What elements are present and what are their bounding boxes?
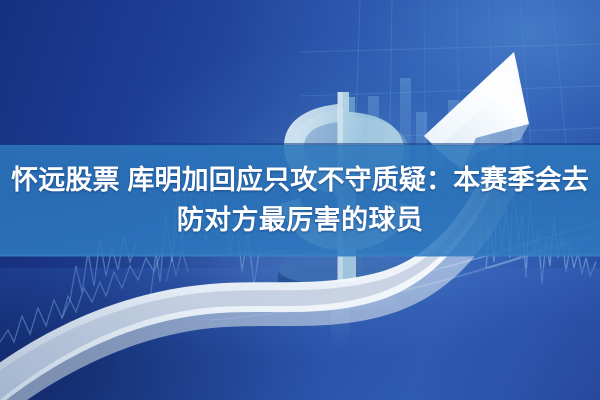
headline-line-2: 防对方最厉害的球员	[0, 200, 600, 240]
headline-band-bottom-edge	[0, 254, 600, 257]
banner-image: 怀远股票 库明加回应只攻不守质疑：本赛季会去 防对方最厉害的球员	[0, 0, 600, 400]
headline-text: 怀远股票 库明加回应只攻不守质疑：本赛季会去 防对方最厉害的球员	[0, 160, 600, 240]
headline-line-1: 怀远股票 库明加回应只攻不守质疑：本赛季会去	[0, 160, 600, 200]
